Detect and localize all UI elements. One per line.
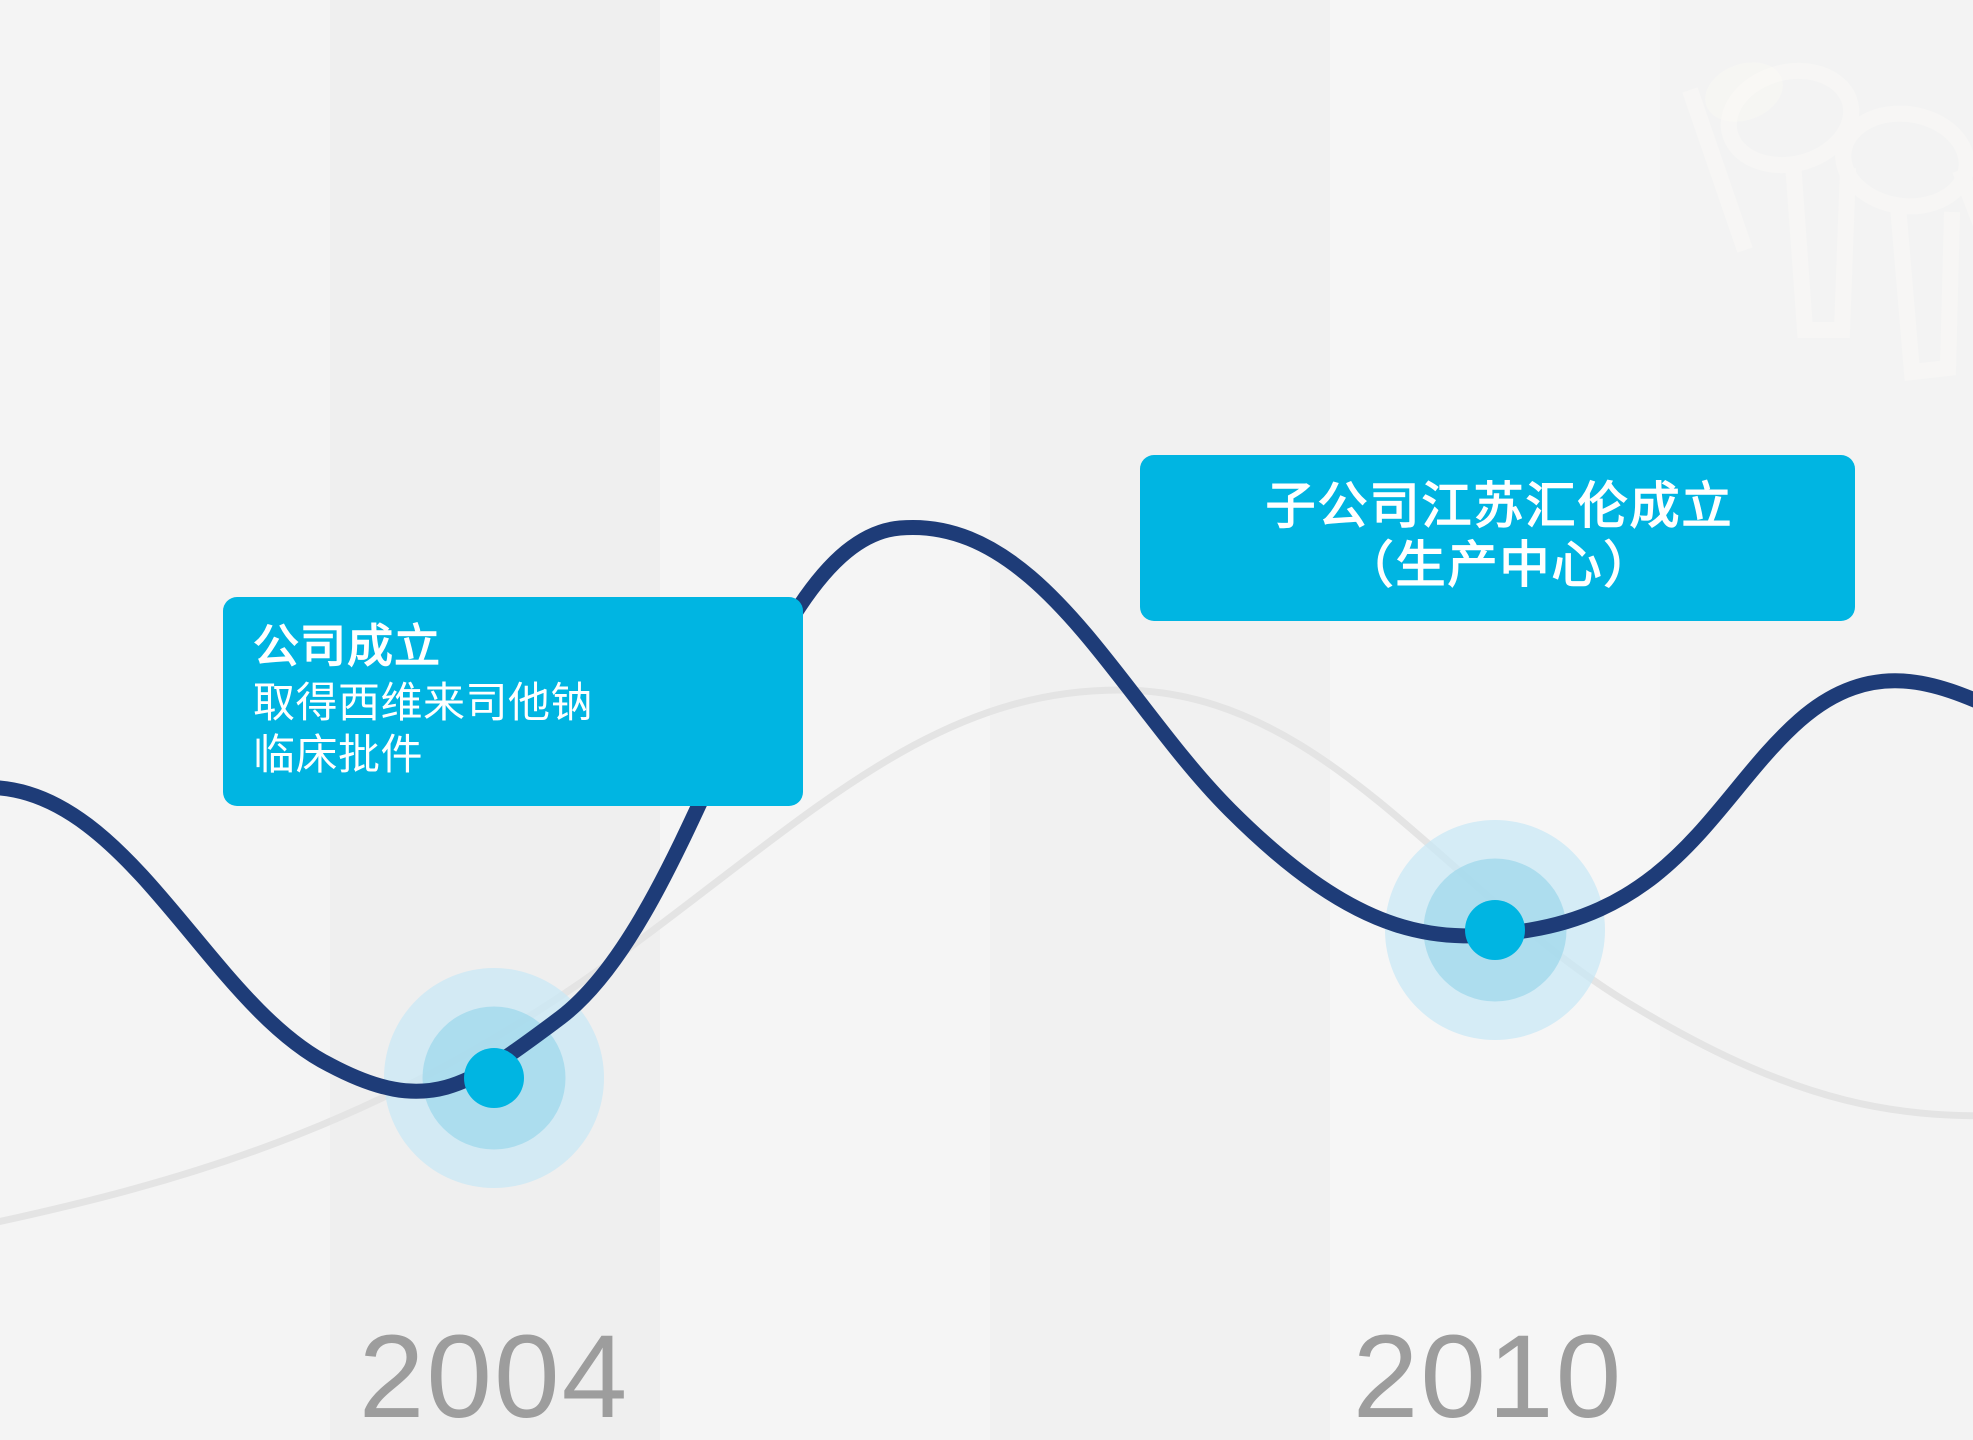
node-dot-icon[interactable]	[1465, 900, 1525, 960]
milestone-card-body: 取得西维来司他钠 临床批件	[253, 677, 777, 779]
timeline-canvas: 公司成立取得西维来司他钠 临床批件子公司江苏汇伦成立 （生产中心） 200420…	[0, 0, 1973, 1440]
milestone-card-title: 公司成立	[253, 619, 777, 673]
milestone-card-2010[interactable]: 子公司江苏汇伦成立 （生产中心）	[1140, 455, 1855, 621]
year-label-2004: 2004	[359, 1318, 630, 1436]
milestone-card-2004[interactable]: 公司成立取得西维来司他钠 临床批件	[223, 597, 803, 806]
milestone-card-title: 子公司江苏汇伦成立 （生产中心）	[1170, 477, 1829, 595]
year-label-2010: 2010	[1353, 1318, 1624, 1436]
node-dot-icon[interactable]	[464, 1048, 524, 1108]
